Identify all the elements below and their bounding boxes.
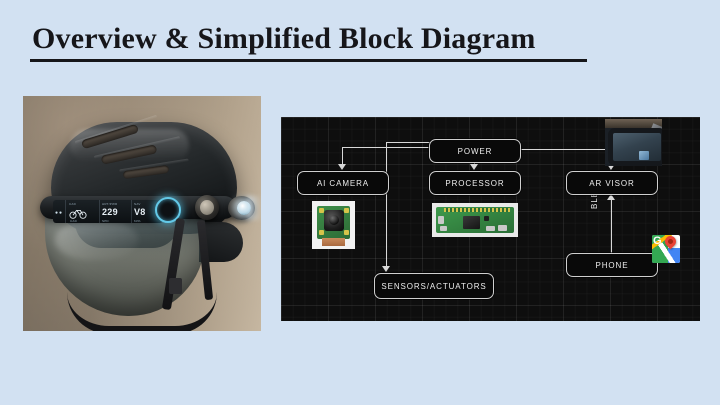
processor-port	[440, 226, 447, 231]
glasses-frame	[608, 128, 662, 166]
block-ar-visor[interactable]: AR VISOR	[566, 171, 658, 195]
block-phone[interactable]: PHONE	[566, 253, 658, 277]
processor-gpio-header	[444, 208, 510, 212]
processor-port	[498, 225, 507, 231]
camera-lens	[324, 210, 344, 231]
processor-port	[486, 226, 495, 231]
page-title: Overview & Simplified Block Diagram	[32, 22, 536, 56]
hud-unit-2: SPD	[102, 219, 109, 223]
helmet-camera-pod	[195, 195, 219, 220]
edge-power-to-sensors-drop	[386, 142, 387, 266]
helmet-hud-display: ●● CAD CAD HRT/PWR 229 SPD NAV V8 63%	[53, 200, 163, 223]
glasses-lens-glint	[639, 151, 649, 160]
block-ai-camera[interactable]: AI CAMERA	[297, 171, 389, 195]
camera-pad	[344, 208, 349, 213]
helmet-chin-strap	[67, 292, 217, 331]
arrowhead-power-to-sensors	[382, 266, 390, 272]
camera-pad	[344, 230, 349, 235]
block-processor-label: PROCESSOR	[445, 179, 504, 188]
block-processor[interactable]: PROCESSOR	[429, 171, 521, 195]
helmet-photo: ●● CAD CAD HRT/PWR 229 SPD NAV V8 63%	[23, 96, 261, 331]
processor-port	[438, 216, 444, 224]
block-ai-camera-label: AI CAMERA	[317, 179, 369, 188]
block-phone-label: PHONE	[596, 261, 629, 270]
block-diagram-panel: BLE POWER AI CAMERA PROCESSOR AR VISOR S…	[281, 117, 700, 321]
arrowhead-power-to-camera	[338, 164, 346, 170]
hud-label-3: NAV	[134, 202, 141, 206]
processor-soc-chip	[463, 216, 480, 229]
processor-pcb	[436, 207, 514, 233]
camera-pad	[319, 230, 324, 235]
block-power-label: POWER	[458, 147, 493, 156]
hud-label-2: HRT/PWR	[102, 202, 117, 206]
headlight-beam	[247, 196, 261, 220]
maps-g-letter: G	[653, 235, 662, 247]
block-sensors-actuators[interactable]: SENSORS/ACTUATORS	[374, 273, 494, 299]
hud-status-dots: ●●	[55, 210, 63, 216]
block-sensors-actuators-label: SENSORS/ACTUATORS	[381, 282, 486, 291]
edge-power-to-camera-drop	[342, 147, 343, 164]
raspberry-pi-photo	[432, 203, 518, 237]
edge-power-to-sensors	[386, 142, 430, 143]
ar-glasses-photo	[605, 119, 662, 166]
hud-label-1: CAD	[69, 202, 76, 206]
hud-value-3: V8	[134, 207, 146, 217]
camera-module-photo	[312, 201, 355, 249]
hud-label-1b: CAD	[70, 219, 77, 223]
arrowhead-power-to-processor	[470, 164, 478, 170]
title-underline-rule	[30, 59, 587, 62]
processor-chip	[484, 216, 489, 221]
block-ar-visor-label: AR VISOR	[589, 179, 634, 188]
block-power[interactable]: POWER	[429, 139, 521, 163]
google-maps-icon: G	[652, 235, 680, 263]
camera-ribbon-cable	[322, 238, 345, 246]
edge-phone-to-visor	[611, 200, 612, 253]
hud-value-2: 229	[102, 207, 118, 217]
hud-unit-3: 63%	[134, 219, 141, 223]
